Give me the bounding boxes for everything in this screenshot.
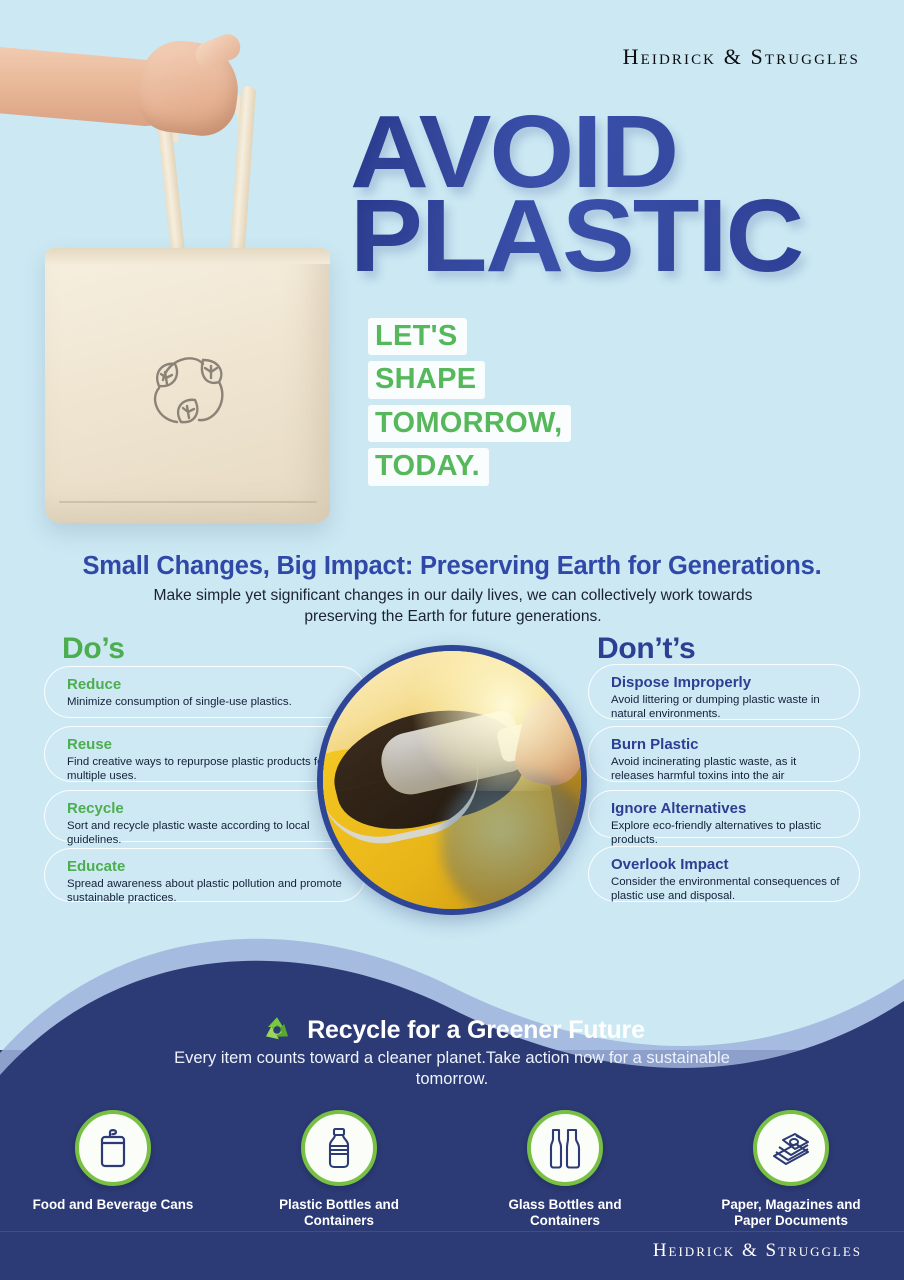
recycle-leaf-icon bbox=[133, 338, 243, 438]
category-item[interactable]: Glass Bottles and Containers bbox=[452, 1110, 678, 1229]
dos-heading: Do’s bbox=[62, 632, 125, 666]
headline-line-2: PLASTIC bbox=[350, 196, 802, 276]
donts-card-title: Ignore Alternatives bbox=[611, 800, 841, 818]
tote-bag-photo bbox=[0, 30, 350, 520]
donts-card-dispose-improperly[interactable]: Dispose Improperly Avoid littering or du… bbox=[588, 664, 860, 720]
center-circle-photo bbox=[317, 645, 587, 915]
beverage-can-icon bbox=[93, 1126, 133, 1170]
category-item[interactable]: Food and Beverage Cans bbox=[0, 1110, 226, 1229]
tagline-line-3: TOMORROW, bbox=[368, 405, 571, 442]
category-item[interactable]: Paper, Magazines and Paper Documents bbox=[678, 1110, 904, 1229]
donts-card-title: Burn Plastic bbox=[611, 736, 841, 754]
dos-card-desc: Sort and recycle plastic waste according… bbox=[67, 819, 347, 848]
dos-card-desc: Spread awareness about plastic pollution… bbox=[67, 877, 347, 906]
magazines-papers-icon bbox=[768, 1126, 814, 1170]
category-icon-circle bbox=[527, 1110, 603, 1186]
category-icon-circle bbox=[301, 1110, 377, 1186]
tagline-line-4: TODAY. bbox=[368, 448, 489, 485]
footer-recycle-heading: Recycle for a Greener Future bbox=[0, 1012, 904, 1048]
recycle-title-text: Recycle for a Greener Future bbox=[307, 1016, 645, 1045]
dos-card-title: Reduce bbox=[67, 676, 347, 694]
category-label: Paper, Magazines and Paper Documents bbox=[706, 1197, 876, 1229]
recycle-categories: Food and Beverage Cans Plastic Bottles a… bbox=[0, 1110, 904, 1229]
bag-fold bbox=[59, 501, 317, 503]
hero-headline: AVOID PLASTIC bbox=[350, 112, 777, 277]
donts-card-desc: Consider the environmental consequences … bbox=[611, 875, 841, 904]
tagline-line-1: LET'S bbox=[368, 318, 467, 355]
dos-card-reduce[interactable]: Reduce Minimize consumption of single-us… bbox=[44, 666, 366, 718]
donts-card-ignore-alternatives[interactable]: Ignore Alternatives Explore eco-friendly… bbox=[588, 790, 860, 838]
category-item[interactable]: Plastic Bottles and Containers bbox=[226, 1110, 452, 1229]
section-title: Small Changes, Big Impact: Preserving Ea… bbox=[0, 552, 904, 581]
category-icon-circle bbox=[75, 1110, 151, 1186]
category-label: Food and Beverage Cans bbox=[33, 1197, 194, 1213]
dos-card-educate[interactable]: Educate Spread awareness about plastic p… bbox=[44, 848, 366, 902]
bag-body bbox=[45, 248, 330, 523]
bag-seam bbox=[45, 248, 330, 264]
dos-card-desc: Minimize consumption of single-use plast… bbox=[67, 695, 347, 709]
poster-root: Heidrick & Struggles bbox=[0, 0, 904, 1280]
donts-card-desc: Avoid littering or dumping plastic waste… bbox=[611, 693, 841, 722]
footer-recycle-subtitle: Every item counts toward a cleaner plane… bbox=[170, 1048, 734, 1091]
dos-card-title: Reuse bbox=[67, 736, 347, 754]
plastic-bottle-icon bbox=[319, 1125, 359, 1171]
sun-glow bbox=[411, 645, 587, 791]
donts-card-desc: Explore eco-friendly alternatives to pla… bbox=[611, 819, 841, 848]
glass-bottles-icon bbox=[544, 1125, 586, 1171]
category-icon-circle bbox=[753, 1110, 829, 1186]
donts-card-title: Overlook Impact bbox=[611, 856, 841, 874]
tagline-line-2: SHAPE bbox=[368, 361, 485, 398]
section-subtitle: Make simple yet significant changes in o… bbox=[118, 586, 788, 627]
donts-card-burn-plastic[interactable]: Burn Plastic Avoid incinerating plastic … bbox=[588, 726, 860, 782]
dos-card-title: Educate bbox=[67, 858, 347, 876]
donts-card-title: Dispose Improperly bbox=[611, 674, 841, 692]
footer-divider bbox=[0, 1231, 904, 1232]
hero-tagline: LET'S SHAPE TOMORROW, TODAY. bbox=[368, 318, 571, 492]
donts-card-overlook-impact[interactable]: Overlook Impact Consider the environment… bbox=[588, 846, 860, 902]
dos-card-desc: Find creative ways to repurpose plastic … bbox=[67, 755, 347, 784]
category-label: Glass Bottles and Containers bbox=[480, 1197, 650, 1229]
recycle-symbol-icon bbox=[259, 1012, 295, 1048]
dos-card-title: Recycle bbox=[67, 800, 347, 818]
brand-logo-top: Heidrick & Struggles bbox=[623, 44, 860, 70]
donts-heading: Don’t’s bbox=[597, 632, 695, 666]
category-label: Plastic Bottles and Containers bbox=[254, 1197, 424, 1229]
brand-logo-bottom: Heidrick & Struggles bbox=[653, 1240, 862, 1262]
donts-card-desc: Avoid incinerating plastic waste, as it … bbox=[611, 755, 841, 784]
